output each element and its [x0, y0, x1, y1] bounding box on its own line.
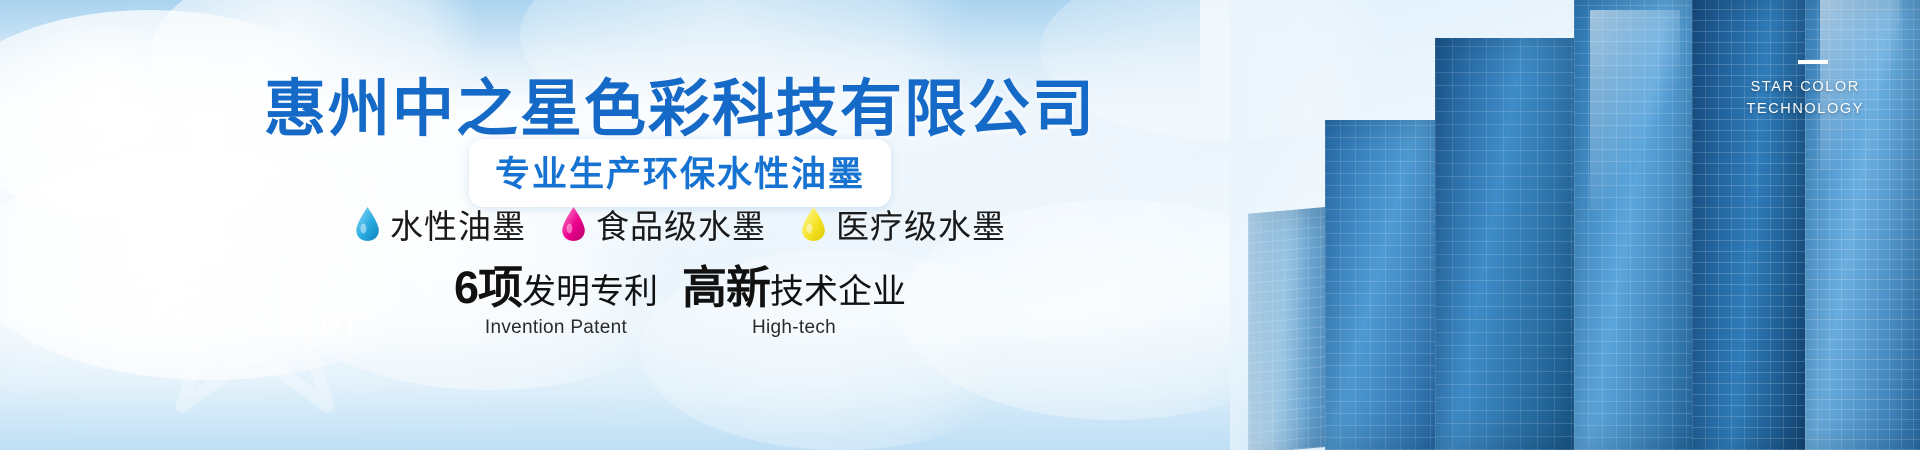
badge-english-text: Invention Patent [454, 317, 658, 339]
water-drop-icon [354, 206, 381, 242]
water-drop-icon [800, 206, 827, 242]
badge-chinese-text: 6项发明专利 [454, 262, 658, 314]
city-caption: STAR COLOR TECHNOLOGY [1746, 76, 1864, 121]
badge-light-text: 发明专利 [522, 273, 658, 311]
caption-rule [1798, 60, 1828, 64]
banner-content: 惠州中之星色彩科技有限公司 专业生产环保水性油墨 水性油墨 [0, 0, 1360, 450]
tower-shape [1692, 0, 1812, 450]
tower-shape [1805, 0, 1920, 450]
feature-label: 医疗级水墨 [836, 200, 1006, 248]
feature-item: 水性油墨 [354, 200, 526, 248]
feature-label: 水性油墨 [390, 200, 526, 248]
tower-shape [1435, 38, 1585, 450]
slogan-pill: 专业生产环保水性油墨 [469, 139, 891, 207]
slogan-row: 专业生产环保水性油墨 [0, 139, 1360, 207]
features-row: 水性油墨 食品级水墨 [0, 200, 1360, 248]
city-caption-line-1: STAR COLOR [1746, 76, 1864, 98]
badge-chinese-text: 高新技术企业 [682, 262, 906, 314]
badge-high-tech: 高新技术企业 High-tech [682, 262, 906, 339]
badges-row: 6项发明专利 Invention Patent 高新技术企业 High-tech [0, 262, 1360, 339]
badge-english-text: High-tech [682, 317, 906, 339]
badge-strong-text: 6项 [454, 262, 522, 313]
company-title: 惠州中之星色彩科技有限公司 [0, 58, 1360, 148]
city-caption-line-2: TECHNOLOGY [1746, 98, 1864, 120]
badge-strong-text: 高新 [682, 262, 770, 313]
promotional-banner: Star Color STAR COLOR TECHNOLOGY 惠州中之星色彩… [0, 0, 1920, 450]
badge-light-text: 技术企业 [770, 273, 906, 311]
badge-invention-patent: 6项发明专利 Invention Patent [454, 262, 658, 339]
feature-item: 食品级水墨 [560, 200, 766, 248]
feature-label: 食品级水墨 [596, 200, 766, 248]
tower-shape [1574, 0, 1702, 450]
water-drop-icon [560, 206, 587, 242]
feature-item: 医疗级水墨 [800, 200, 1006, 248]
